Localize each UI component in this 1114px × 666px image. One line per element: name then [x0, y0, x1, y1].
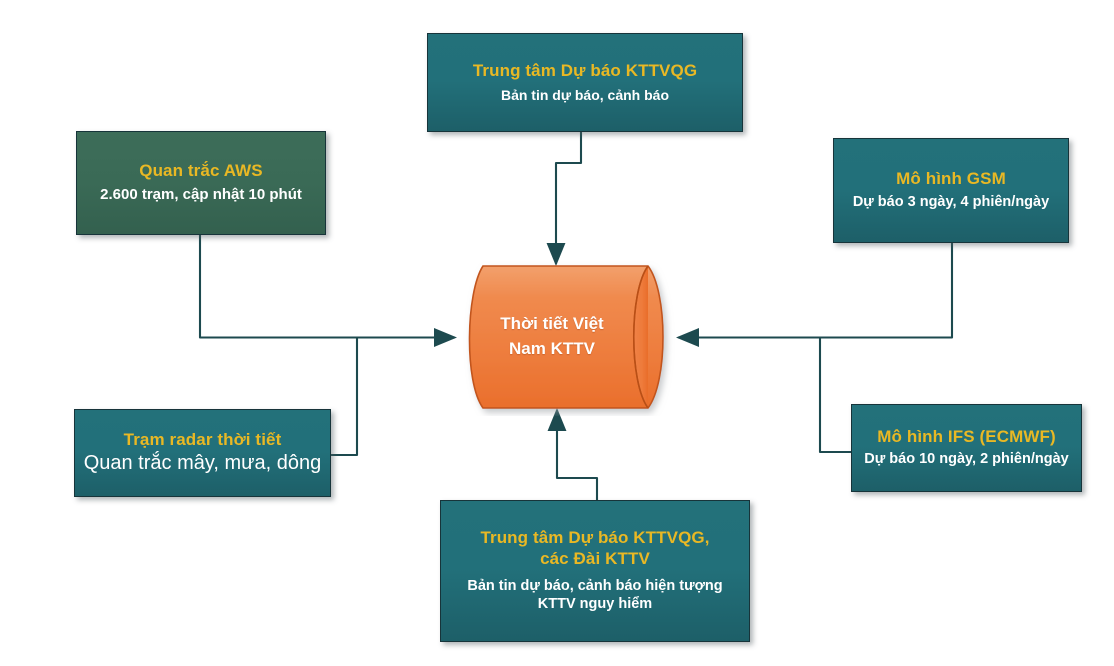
node-subtitle: Quan trắc mây, mưa, dông — [84, 451, 322, 476]
node-tram-radar-thoi-tiet[interactable]: Trạm radar thời tiết Quan trắc mây, mưa,… — [74, 409, 331, 497]
center-cylinder — [452, 258, 684, 416]
node-subtitle: Dự báo 10 ngày, 2 phiên/ngày — [864, 451, 1068, 469]
node-subtitle: Dự báo 3 ngày, 4 phiên/ngày — [853, 194, 1049, 212]
edge-dai-to-center — [557, 410, 597, 500]
edge-radar-to-center — [331, 339, 357, 456]
node-title: Trung tâm Dự báo KTTVQG — [473, 61, 697, 82]
node-quan-trac-aws[interactable]: Quan trắc AWS 2.600 trạm, cập nhật 10 ph… — [76, 131, 326, 235]
node-subtitle-line2: KTTV nguy hiểm — [445, 596, 745, 614]
node-trung-tam-du-bao-kttvqg[interactable]: Trung tâm Dự báo KTTVQG Bản tin dự báo, … — [427, 33, 743, 132]
node-subtitle: Bản tin dự báo, cảnh báo — [501, 87, 669, 104]
node-title: Trạm radar thời tiết — [124, 430, 282, 451]
node-title: Quan trắc AWS — [139, 161, 262, 182]
edge-kttvqg-to-center — [556, 132, 581, 264]
edge-aws-to-center — [200, 235, 455, 338]
node-title: Mô hình IFS (ECMWF) — [877, 427, 1055, 448]
node-mo-hinh-gsm[interactable]: Mô hình GSM Dự báo 3 ngày, 4 phiên/ngày — [833, 138, 1069, 243]
diagram-canvas: Thời tiết Việt Nam KTTV Quan trắc AWS 2.… — [0, 0, 1114, 666]
node-title: Trung tâm Dự báo KTTVQG, các Đài KTTV — [473, 528, 718, 569]
node-subtitle: 2.600 trạm, cập nhật 10 phút — [100, 186, 302, 205]
node-title-line2: các Đài KTTV — [473, 549, 718, 570]
node-title-line1: Trung tâm Dự báo KTTVQG, — [473, 528, 718, 549]
node-trung-tam-du-bao-kttvqg-cac-dai-kttv[interactable]: Trung tâm Dự báo KTTVQG, các Đài KTTV Bả… — [440, 500, 750, 642]
node-subtitle: Bản tin dự báo, cảnh báo hiện tượng KTTV… — [445, 578, 745, 614]
node-mo-hinh-ifs-ecmwf[interactable]: Mô hình IFS (ECMWF) Dự báo 10 ngày, 2 ph… — [851, 404, 1082, 492]
edge-ifs-to-center — [820, 339, 851, 453]
node-title: Mô hình GSM — [896, 169, 1006, 190]
node-subtitle-line1: Bản tin dự báo, cảnh báo hiện tượng — [445, 578, 745, 596]
edge-gsm-to-center — [678, 243, 952, 338]
